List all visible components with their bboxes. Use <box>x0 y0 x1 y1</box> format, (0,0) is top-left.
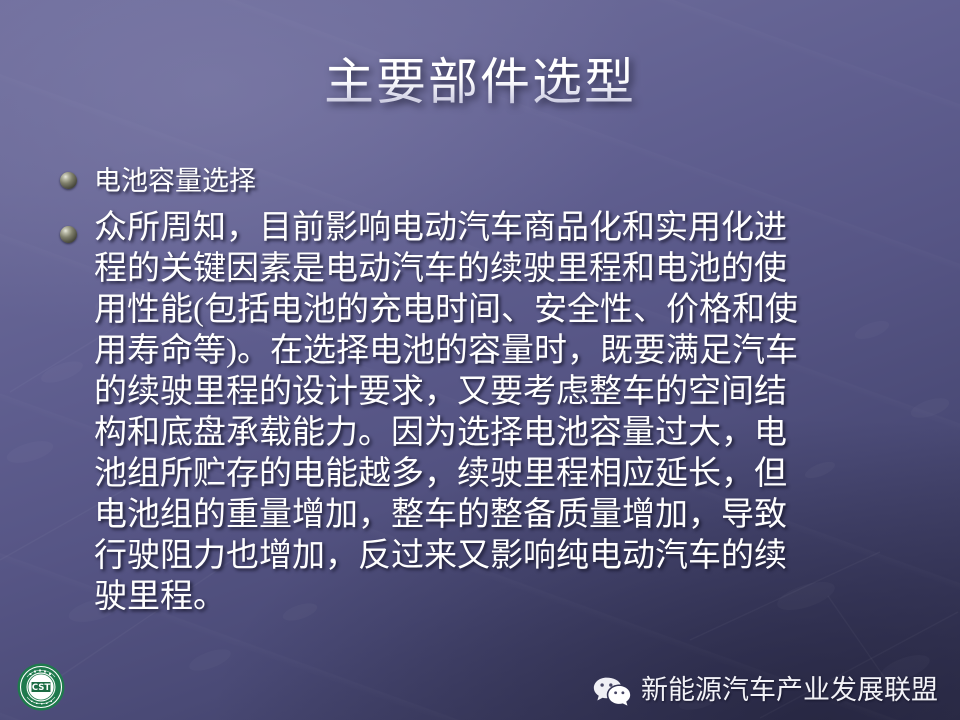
wechat-label: 新能源汽车产业发展联盟 <box>641 676 938 706</box>
cst-circular-seal-logo: CST <box>16 662 66 712</box>
bullet-2-line-7: 池组所贮存的电能越多，续驶里程相应延长，但 <box>94 454 924 495</box>
sphere-bullet-icon <box>60 226 77 243</box>
bullet-2-line-5: 的续驶里程的设计要求，又要考虑整车的空间结 <box>94 372 924 413</box>
bullet-1-line-1: 电池容量选择 <box>94 163 924 200</box>
sphere-bullet-icon <box>60 172 77 189</box>
bullet-2-line-2: 程的关键因素是电动汽车的续驶里程和电池的使 <box>94 249 924 290</box>
wechat-footer: 新能源汽车产业发展联盟 <box>593 676 938 706</box>
bullet-2-line-10: 驶里程。 <box>94 577 924 618</box>
bullet-2-line-4: 用寿命等)。在选择电池的容量时，既要满足汽车 <box>94 331 924 372</box>
bullet-2-line-6: 构和底盘承载能力。因为选择电池容量过大，电 <box>94 413 924 454</box>
bullet-item-1: 电池容量选择 <box>56 163 924 200</box>
bullet-item-2: 众所周知，目前影响电动汽车商品化和实用化进 程的关键因素是电动汽车的续驶里程和电… <box>56 208 924 618</box>
slide-title: 主要部件选型 <box>0 52 960 112</box>
slide-body: 电池容量选择 众所周知，目前影响电动汽车商品化和实用化进 程的关键因素是电动汽车… <box>56 163 924 618</box>
bullet-2-line-1: 众所周知，目前影响电动汽车商品化和实用化进 <box>94 208 924 249</box>
bullet-2-line-3: 用性能(包括电池的充电时间、安全性、价格和使 <box>94 290 924 331</box>
bullet-2-line-8: 电池组的重量增加，整车的整备质量增加，导致 <box>94 495 924 536</box>
wechat-icon <box>593 676 631 706</box>
seal-center-text: CST <box>32 683 51 693</box>
presentation-slide: 主要部件选型 电池容量选择 众所周知，目前影响电动汽车商品化和实用化进 程的关键… <box>0 0 960 720</box>
bullet-2-line-9: 行驶阻力也增加，反过来又影响纯电动汽车的续 <box>94 536 924 577</box>
